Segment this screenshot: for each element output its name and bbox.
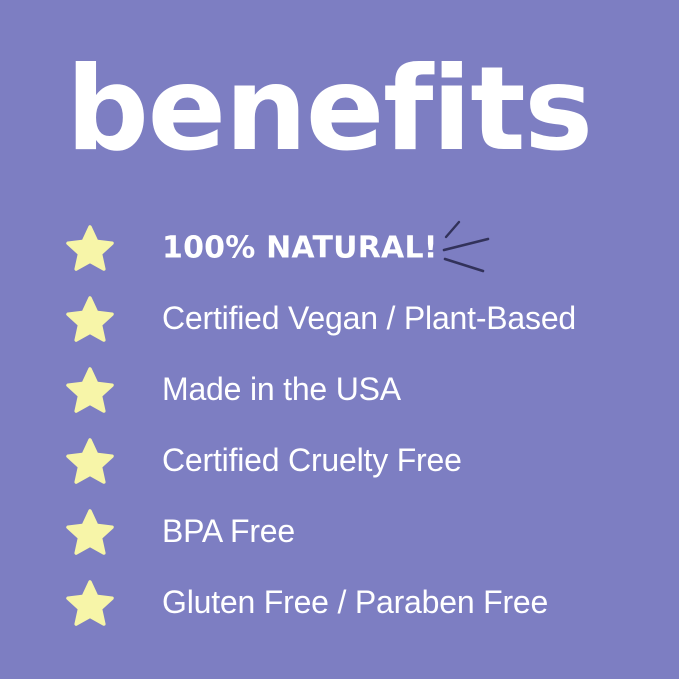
benefits-panel: benefits 100% NATURAL! Certified Vegan /… [0,0,679,679]
benefits-list: 100% NATURAL! Certified Vegan / Plant-Ba… [0,212,679,638]
burst-icon [440,218,492,278]
page-title: benefits [66,52,592,168]
list-item-label: Gluten Free / Paraben Free [162,586,548,620]
list-item: 100% NATURAL! [0,212,679,283]
list-item: BPA Free [0,496,679,567]
star-icon [66,437,114,485]
list-item-label: Certified Cruelty Free [162,444,462,478]
list-item: Made in the USA [0,354,679,425]
star-icon [66,508,114,556]
list-item-label: Made in the USA [162,373,401,407]
list-item-label: Certified Vegan / Plant-Based [162,302,576,336]
list-item-label: BPA Free [162,515,295,549]
star-icon [66,224,114,272]
list-item: Certified Vegan / Plant-Based [0,283,679,354]
star-icon [66,366,114,414]
list-item: Certified Cruelty Free [0,425,679,496]
list-item-label: 100% NATURAL! [162,232,438,264]
star-icon [66,295,114,343]
list-item: Gluten Free / Paraben Free [0,567,679,638]
star-icon [66,579,114,627]
